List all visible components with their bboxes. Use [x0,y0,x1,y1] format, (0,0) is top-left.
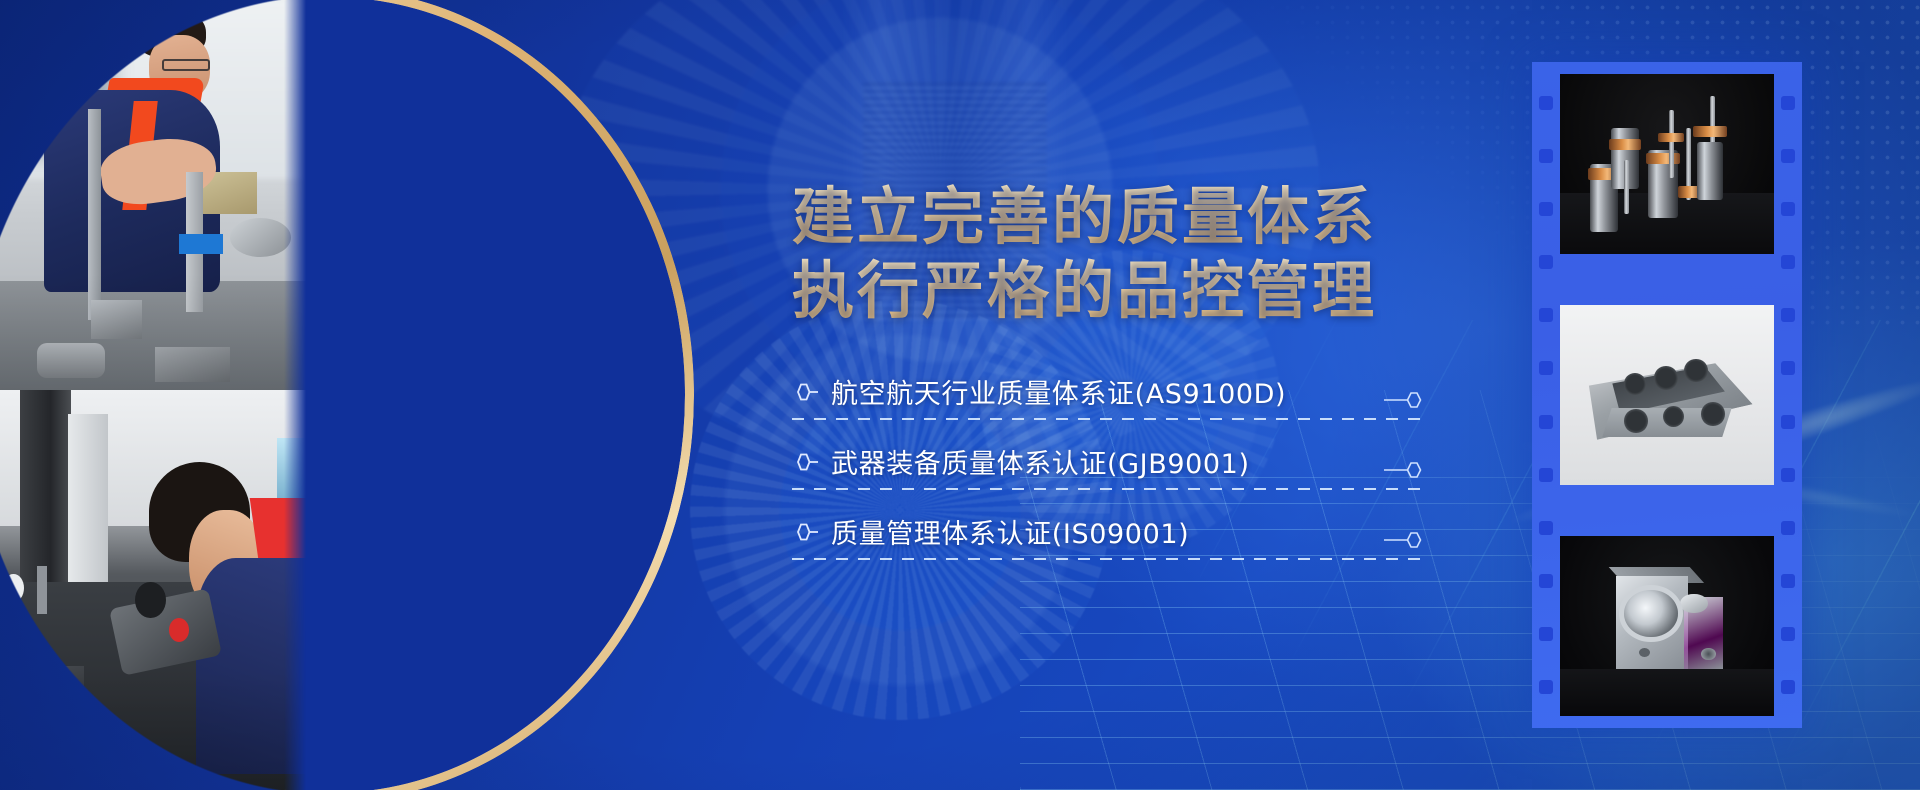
certification-item-as9100d[interactable]: 航空航天行业质量体系证(AS9100D) [792,368,1424,415]
certification-item-gjb9001[interactable]: 武器装备质量体系认证(GJB9001) [792,438,1424,485]
certification-label: 武器装备质量体系认证(GJB9001) [831,442,1250,481]
headline-line-2: 执行严格的品控管理 [792,254,1432,328]
certification-label: 航空航天行业质量体系证(AS9100D) [831,372,1286,411]
quality-system-banner: 建立完善的质量体系 执行严格的品控管理 航空航天行业质量体系证(AS9100D) [0,0,1920,790]
certification-item-iso9001[interactable]: 质量管理体系认证(IS09001) [792,508,1424,555]
product-shot-turned-parts [1560,74,1774,254]
filmstrip-perforations-right [1774,62,1802,728]
hexagon-bullet-icon [792,382,818,402]
photo-cnc-operator-panel [338,390,690,790]
headline-line-1: 建立完善的质量体系 [792,180,1432,254]
photo-collage [0,0,690,790]
certification-divider [792,488,1424,490]
certification-list: 航空航天行业质量体系证(AS9100D) 武器装备质量体系认证(GJB9 [792,368,1424,555]
certification-divider [792,418,1424,420]
hexagon-end-icon [1384,389,1426,411]
hexagon-end-icon [1384,529,1426,551]
certification-label: 质量管理体系认证(IS09001) [831,512,1189,551]
hexagon-end-icon [1384,459,1426,481]
product-shot-bearing-block [1560,536,1774,716]
product-filmstrip-panel [1532,62,1802,728]
photo-female-inspector-bench [338,0,690,390]
certification-divider [792,558,1424,560]
product-shot-machined-housing [1560,305,1774,485]
hexagon-bullet-icon [792,452,818,472]
headline-block: 建立完善的质量体系 执行严格的品控管理 航空航天行业质量体系证(AS9100D) [792,180,1432,555]
filmstrip-perforations-left [1532,62,1560,728]
hexagon-bullet-icon [792,522,818,542]
photo-inspector-height-gauge [0,0,338,390]
photo-cmm-operator [0,390,338,790]
